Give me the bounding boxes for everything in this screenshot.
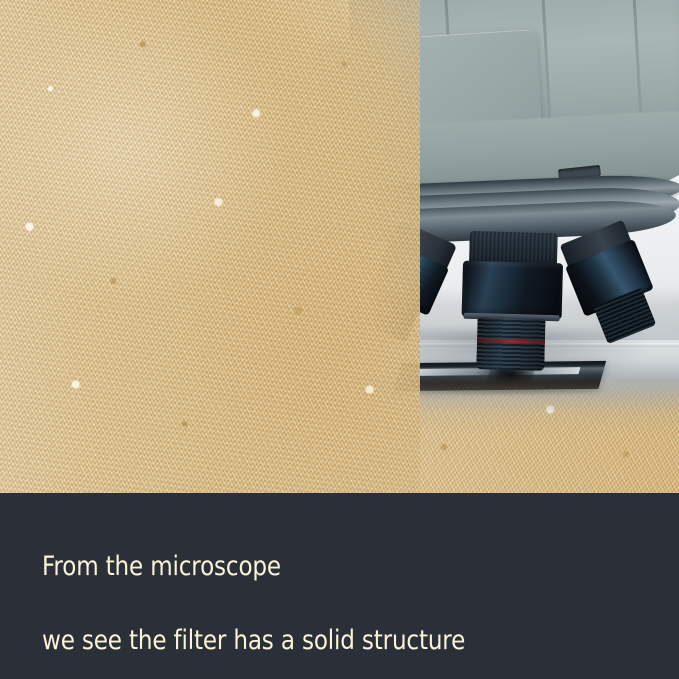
objective-tip: [476, 317, 545, 371]
caption-text: From the microscope we see the filter ha…: [42, 511, 572, 679]
caption-line-2: we see the filter has a solid structure: [42, 622, 572, 659]
caption-line-1: From the microscope: [42, 548, 572, 585]
objective-lens-center: [458, 231, 566, 374]
microscope-photo: [0, 0, 679, 493]
caption-band: From the microscope we see the filter ha…: [0, 493, 679, 679]
product-image-card: From the microscope we see the filter ha…: [0, 0, 679, 679]
filter-paper-icon: [0, 0, 420, 493]
objective-barrel: [462, 261, 563, 320]
